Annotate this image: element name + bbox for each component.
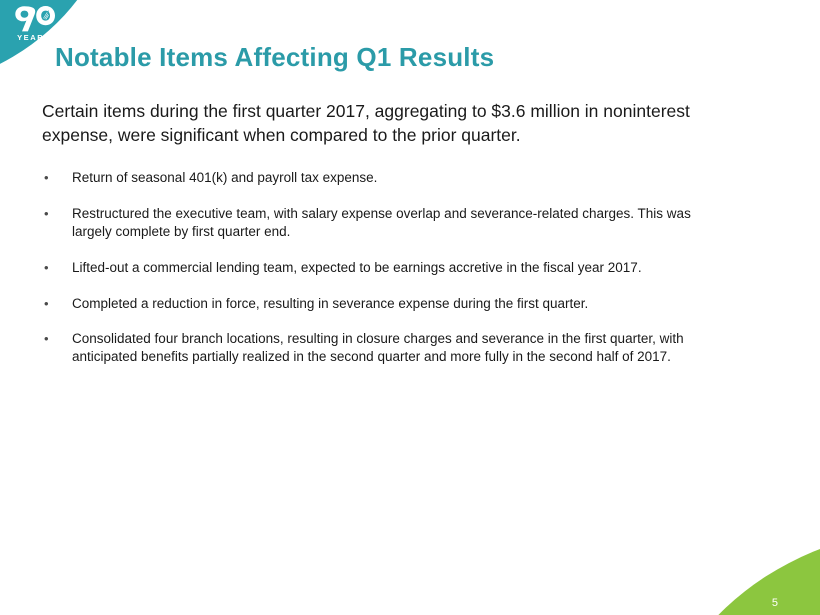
presentation-slide: YEARS Notable Items Affecting Q1 Results…: [0, 0, 820, 615]
bullet-marker-icon: •: [42, 205, 72, 222]
bullet-marker-icon: •: [42, 169, 72, 186]
list-item-text: Restructured the executive team, with sa…: [72, 205, 742, 241]
list-item-text: Lifted-out a commercial lending team, ex…: [72, 259, 742, 277]
list-item: • Lifted-out a commercial lending team, …: [42, 259, 742, 277]
logo-caption: YEARS: [17, 34, 51, 42]
list-item: • Consolidated four branch locations, re…: [42, 330, 742, 366]
ninety-years-logo-icon: [12, 5, 56, 33]
list-item-text: Consolidated four branch locations, resu…: [72, 330, 742, 366]
lead-paragraph: Certain items during the first quarter 2…: [42, 100, 742, 147]
bullet-marker-icon: •: [42, 330, 72, 347]
list-item: • Completed a reduction in force, result…: [42, 295, 742, 313]
bullet-marker-icon: •: [42, 259, 72, 276]
bullet-marker-icon: •: [42, 295, 72, 312]
ninety-years-logo: YEARS: [10, 5, 58, 47]
list-item-text: Completed a reduction in force, resultin…: [72, 295, 742, 313]
slide-title: Notable Items Affecting Q1 Results: [55, 43, 494, 72]
green-corner-decoration: [660, 525, 820, 615]
page-number: 5: [772, 598, 778, 609]
list-item: • Return of seasonal 401(k) and payroll …: [42, 169, 742, 187]
list-item: • Restructured the executive team, with …: [42, 205, 742, 241]
bullet-list: • Return of seasonal 401(k) and payroll …: [42, 169, 742, 366]
list-item-text: Return of seasonal 401(k) and payroll ta…: [72, 169, 742, 187]
slide-body: Certain items during the first quarter 2…: [42, 100, 742, 384]
